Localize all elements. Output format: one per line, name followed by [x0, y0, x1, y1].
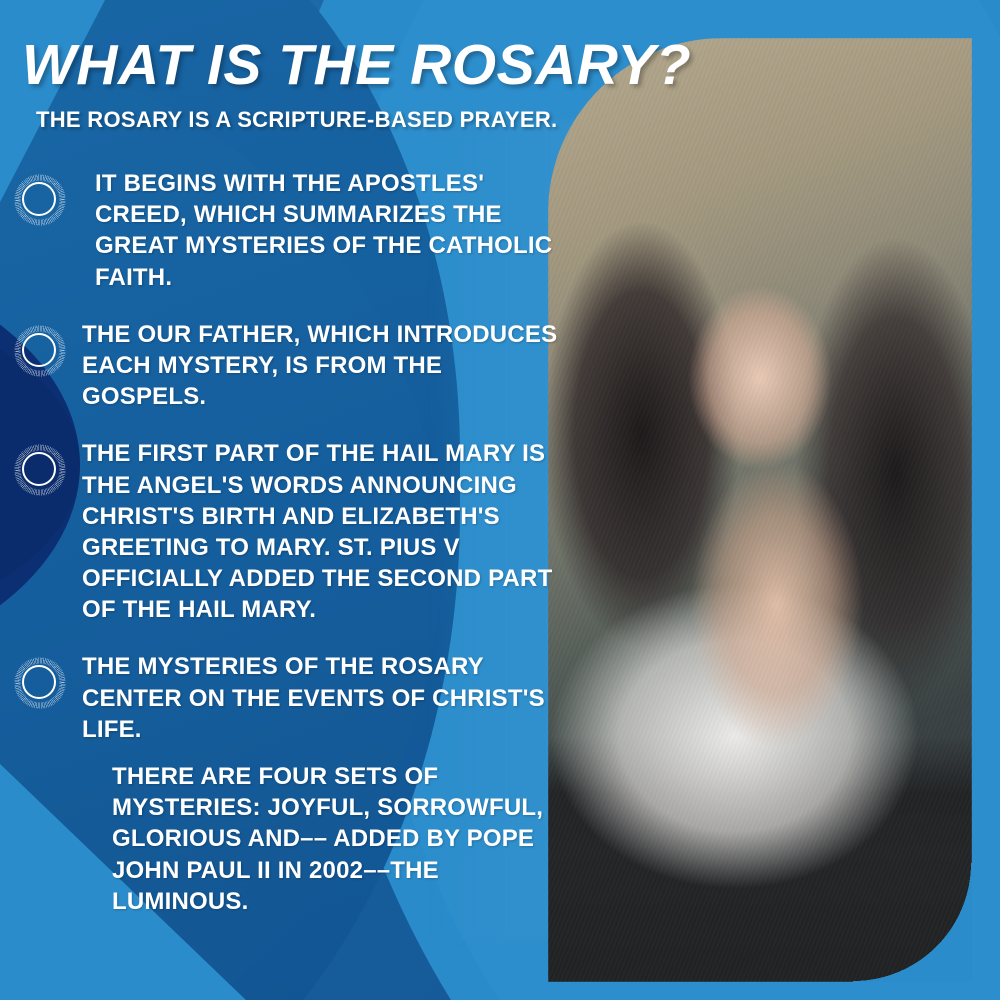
list-item-text: IT BEGINS WITH THE APOSTLES' CREED, WHIC…: [66, 168, 562, 293]
praying-woman-photo: [548, 38, 972, 982]
list-item-body: THE MYSTERIES OF THE ROSARY CENTER ON TH…: [66, 651, 562, 917]
circle-ring-bullet-icon: [14, 325, 66, 377]
list-item: THE MYSTERIES OF THE ROSARY CENTER ON TH…: [14, 651, 562, 917]
circle-ring-bullet-icon: [14, 174, 66, 226]
page-subtitle: THE ROSARY IS A SCRIPTURE-BASED PRAYER.: [36, 107, 557, 133]
page-title: WHAT IS THE ROSARY?: [22, 36, 691, 96]
list-item-text: THE MYSTERIES OF THE ROSARY CENTER ON TH…: [66, 651, 562, 745]
bullet-ring-icon: [22, 333, 56, 367]
list-item-sub-note: THERE ARE FOUR SETS OF MYSTERIES: JOYFUL…: [112, 761, 562, 917]
bullet-ring-icon: [22, 182, 56, 216]
rosary-infographic-poster: WHAT IS THE ROSARY? THE ROSARY IS A SCRI…: [0, 0, 1000, 1000]
list-item: THE FIRST PART OF THE HAIL MARY IS THE A…: [14, 438, 562, 625]
bullet-list: IT BEGINS WITH THE APOSTLES' CREED, WHIC…: [14, 168, 562, 943]
list-item-text: THE OUR FATHER, WHICH INTRODUCES EACH MY…: [66, 319, 562, 413]
list-item: IT BEGINS WITH THE APOSTLES' CREED, WHIC…: [14, 168, 562, 293]
circle-ring-bullet-icon: [14, 444, 66, 496]
list-item: THE OUR FATHER, WHICH INTRODUCES EACH MY…: [14, 319, 562, 413]
photo-texture-overlay: [548, 38, 972, 982]
list-item-text: THE FIRST PART OF THE HAIL MARY IS THE A…: [66, 438, 562, 625]
circle-ring-bullet-icon: [14, 657, 66, 709]
